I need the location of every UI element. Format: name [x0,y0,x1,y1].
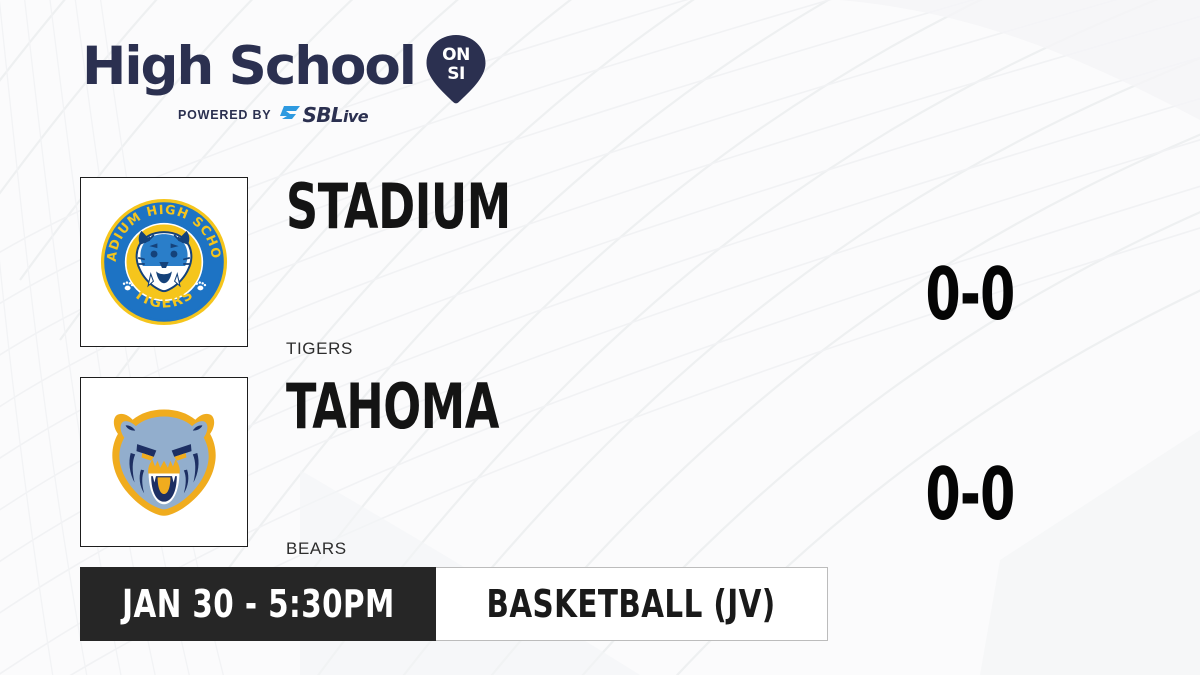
page-title: High School [82,38,415,96]
team-record-stadium: 0-0 [908,258,1033,330]
game-sport-block: BASKETBALL (JV) [436,567,828,641]
pin-text-on: ON [442,45,470,65]
tahoma-bears-grizzly-head-icon [100,398,228,526]
powered-by-row: POWERED BY SBLive [82,104,464,126]
team-logo-box-stadium: STADIUM HIGH SCHOOL TIGERS [80,177,248,347]
game-info-bar: JAN 30 - 5:30PM BASKETBALL (JV) [80,567,828,641]
game-sport-label: BASKETBALL (JV) [487,584,776,624]
powered-by-label: POWERED BY [178,108,271,122]
team-name-tahoma: TAHOMA [286,376,499,438]
brand-lockup: High School ON SI POWERED BY SBLive [82,36,512,134]
sblive-wordmark: SBLive [302,103,368,127]
game-datetime-label: JAN 30 - 5:30PM [122,584,394,624]
brand-title-row: High School ON SI [82,36,512,98]
on-si-pin-icon: ON SI [425,34,487,104]
game-datetime-block: JAN 30 - 5:30PM [80,567,436,641]
sblive-lower: ive [343,107,368,126]
pin-text-si: SI [447,64,465,84]
sblive-upper: SBL [302,103,343,127]
scoreboard-graphic: High School ON SI POWERED BY SBLive [0,0,1200,675]
team-logo-box-tahoma [80,377,248,547]
team-mascot-tigers: TIGERS [286,339,353,359]
team-record-tahoma: 0-0 [908,458,1033,530]
team-name-stadium: STADIUM [286,176,511,238]
stadium-high-school-tigers-crest-icon: STADIUM HIGH SCHOOL TIGERS [99,197,229,327]
team-mascot-bears: BEARS [286,539,347,559]
sblive-s-mark-icon [280,106,300,124]
